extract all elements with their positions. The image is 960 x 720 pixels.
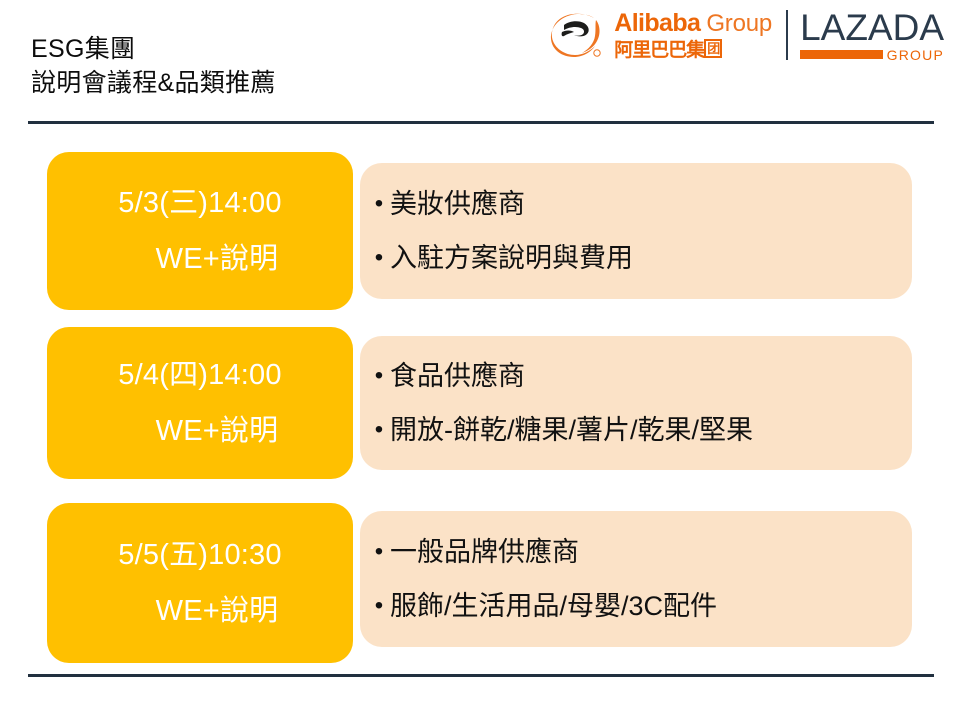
agenda-content-panel: • 一般品牌供應商 • 服飾/生活用品/母嬰/3C配件 (360, 511, 912, 647)
list-item: • 服飾/生活用品/母嬰/3C配件 (368, 586, 892, 626)
agenda-content-panel: • 食品供應商 • 開放-餅乾/糖果/薯片/乾果/堅果 (360, 336, 912, 470)
list-item-label: 開放-餅乾/糖果/薯片/乾果/堅果 (390, 410, 753, 450)
agenda-content-panel: • 美妝供應商 • 入駐方案說明與費用 (360, 163, 912, 299)
list-item: • 食品供應商 (368, 356, 892, 396)
bullet-icon: • (368, 410, 390, 450)
list-item: • 開放-餅乾/糖果/薯片/乾果/堅果 (368, 410, 892, 450)
bullet-icon: • (368, 586, 390, 626)
agenda-session: WE+說明 (122, 414, 279, 448)
list-item-label: 食品供應商 (390, 356, 525, 396)
list-item-label: 美妝供應商 (390, 184, 525, 224)
list-item: • 一般品牌供應商 (368, 532, 892, 572)
list-item-label: 一般品牌供應商 (390, 532, 579, 572)
agenda-time-box: 5/5(五)10:30 WE+說明 (47, 503, 353, 663)
footer-divider-rule (28, 674, 934, 677)
list-item: • 美妝供應商 (368, 184, 892, 224)
agenda-time-box: 5/3(三)14:00 WE+說明 (47, 152, 353, 310)
agenda-time-box: 5/4(四)14:00 WE+說明 (47, 327, 353, 479)
list-item-label: 服飾/生活用品/母嬰/3C配件 (390, 586, 717, 626)
list-item-label: 入駐方案說明與費用 (390, 238, 633, 278)
agenda-date: 5/3(三)14:00 (118, 186, 281, 220)
agenda-session: WE+說明 (122, 594, 279, 628)
agenda-session: WE+說明 (122, 242, 279, 276)
bullet-icon: • (368, 184, 390, 224)
agenda-list: • 美妝供應商 • 入駐方案說明與費用 5/3(三)14:00 WE+說明 • … (0, 0, 960, 720)
bullet-icon: • (368, 532, 390, 572)
bullet-icon: • (368, 356, 390, 396)
list-item: • 入駐方案說明與費用 (368, 238, 892, 278)
agenda-date: 5/5(五)10:30 (118, 538, 281, 572)
agenda-date: 5/4(四)14:00 (118, 358, 281, 392)
bullet-icon: • (368, 238, 390, 278)
